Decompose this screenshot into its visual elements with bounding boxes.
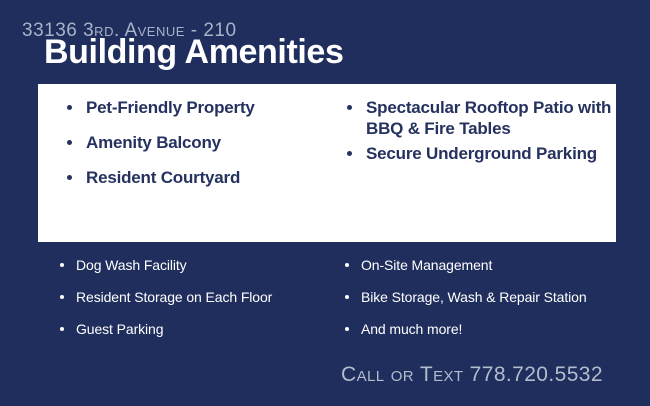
list-item-label: Amenity Balcony — [86, 133, 221, 152]
call-or-text-cta[interactable]: Call or Text 778.720.5532 — [341, 363, 603, 387]
bullet-icon — [67, 175, 72, 180]
list-item-label: Pet-Friendly Property — [86, 98, 255, 117]
list-item-label: Resident Courtyard — [86, 168, 240, 187]
page-title: Building Amenities — [44, 33, 343, 71]
bullet-icon — [347, 105, 352, 110]
bullet-icon — [67, 140, 72, 145]
list-item: Pet-Friendly Property — [64, 97, 340, 118]
bullet-icon — [345, 263, 349, 267]
bullet-icon — [60, 263, 64, 267]
list-item-label: Guest Parking — [76, 321, 163, 337]
list-item: Secure Underground Parking — [344, 143, 616, 164]
featured-amenities-right-column: Spectacular Rooftop Patio with BBQ & Fir… — [340, 84, 616, 242]
featured-amenities-right-list: Spectacular Rooftop Patio with BBQ & Fir… — [344, 97, 616, 164]
bullet-icon — [345, 295, 349, 299]
bullet-icon — [60, 327, 64, 331]
bullet-icon — [60, 295, 64, 299]
list-item: Resident Storage on Each Floor — [57, 288, 327, 306]
bullet-icon — [67, 105, 72, 110]
list-item: Dog Wash Facility — [57, 256, 327, 274]
amenities-slide: 33136 3rd. Avenue - 210 Building Ameniti… — [0, 0, 650, 406]
list-item-label: Spectacular Rooftop Patio with BBQ & Fir… — [366, 98, 611, 138]
secondary-amenities-right-column: On-Site Management Bike Storage, Wash & … — [342, 256, 622, 352]
featured-amenities-card: Pet-Friendly Property Amenity Balcony Re… — [38, 84, 616, 242]
list-item: Spectacular Rooftop Patio with BBQ & Fir… — [344, 97, 616, 139]
list-item: Bike Storage, Wash & Repair Station — [342, 288, 622, 306]
list-item: Amenity Balcony — [64, 132, 340, 153]
list-item-label: Secure Underground Parking — [366, 144, 597, 163]
secondary-amenities-left-list: Dog Wash Facility Resident Storage on Ea… — [57, 256, 327, 338]
list-item: And much more! — [342, 320, 622, 338]
list-item-label: And much more! — [361, 321, 462, 337]
secondary-amenities-right-list: On-Site Management Bike Storage, Wash & … — [342, 256, 622, 338]
list-item: Resident Courtyard — [64, 167, 340, 188]
list-item: On-Site Management — [342, 256, 622, 274]
featured-amenities-left-list: Pet-Friendly Property Amenity Balcony Re… — [64, 97, 340, 188]
list-item-label: Dog Wash Facility — [76, 257, 187, 273]
list-item: Guest Parking — [57, 320, 327, 338]
list-item-label: On-Site Management — [361, 257, 492, 273]
featured-amenities-left-column: Pet-Friendly Property Amenity Balcony Re… — [38, 84, 340, 242]
bullet-icon — [347, 151, 352, 156]
secondary-amenities-left-column: Dog Wash Facility Resident Storage on Ea… — [57, 256, 327, 352]
bullet-icon — [345, 327, 349, 331]
list-item-label: Bike Storage, Wash & Repair Station — [361, 289, 587, 305]
list-item-label: Resident Storage on Each Floor — [76, 289, 272, 305]
